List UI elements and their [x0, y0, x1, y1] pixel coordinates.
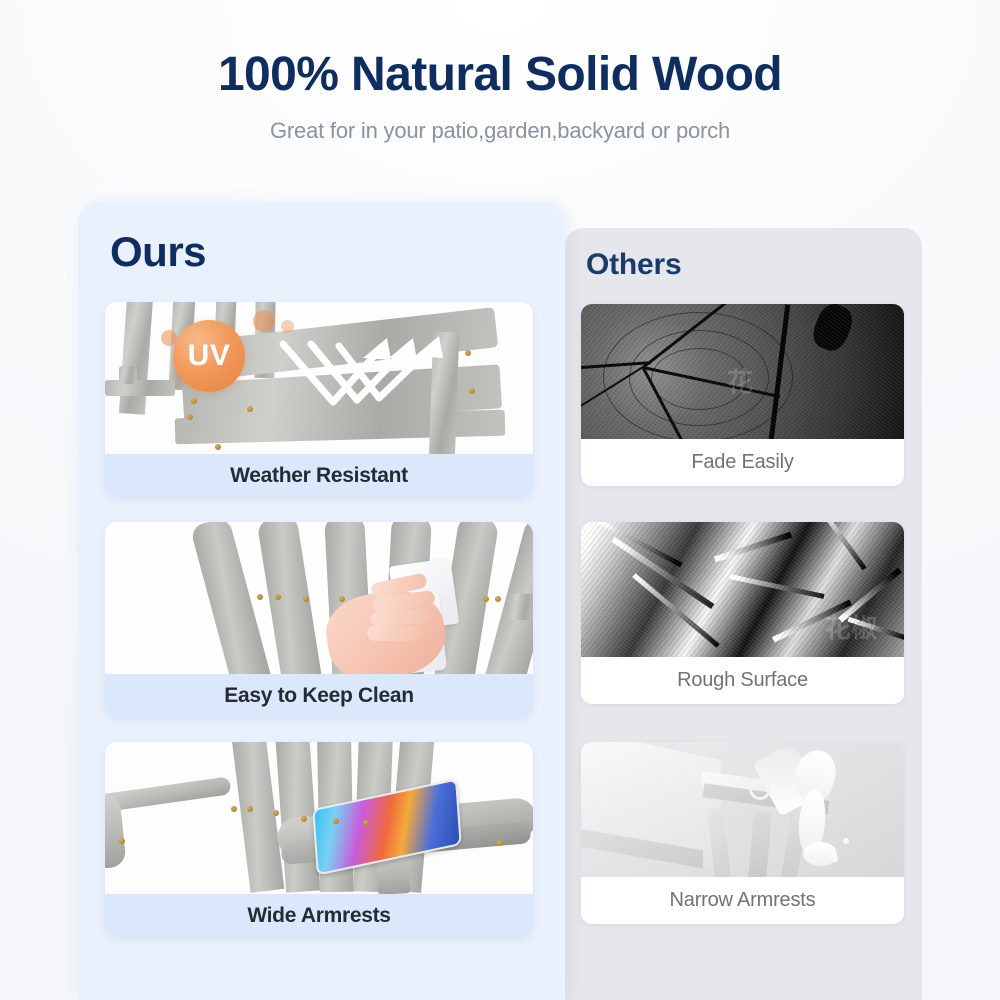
others-card-fade-easily[interactable]: 花 Fade Easily	[581, 304, 904, 486]
others-card-1-watermark: 花	[727, 362, 753, 399]
others-card-3-image	[581, 742, 904, 877]
others-card-1-caption: Fade Easily	[581, 439, 904, 486]
others-card-2-caption: Rough Surface	[581, 657, 904, 704]
cracked-stump-texture: 花	[581, 304, 904, 439]
ours-card-1-caption: Weather Resistant	[105, 454, 533, 498]
uv-reflection-arrows	[105, 302, 533, 454]
others-card-rough-surface[interactable]: 花椒 Rough Surface	[581, 522, 904, 704]
others-card-2-watermark: 花椒	[825, 608, 877, 645]
ours-card-weather-resistant[interactable]: UV Weather Resistant	[105, 302, 533, 498]
chair-uv-illustration: UV	[105, 302, 533, 454]
narrow-armrest-render	[581, 742, 904, 877]
others-panel-title: Others	[586, 248, 682, 282]
ours-card-1-image: UV	[105, 302, 533, 454]
ours-panel-title: Ours	[110, 228, 206, 276]
rough-wood-texture: 花椒	[581, 522, 904, 657]
ours-card-2-caption: Easy to Keep Clean	[105, 674, 533, 718]
uv-badge: UV	[173, 320, 245, 392]
page-title: 100% Natural Solid Wood	[0, 48, 1000, 102]
ours-card-easy-to-keep-clean[interactable]: Easy to Keep Clean	[105, 522, 533, 718]
others-card-1-image: 花	[581, 304, 904, 439]
others-card-3-caption: Narrow Armrests	[581, 877, 904, 924]
ours-card-wide-armrests[interactable]: Wide Armrests	[105, 742, 533, 938]
others-card-narrow-armrests[interactable]: Narrow Armrests	[581, 742, 904, 924]
ours-card-3-caption: Wide Armrests	[105, 894, 533, 938]
others-card-2-image: 花椒	[581, 522, 904, 657]
ours-card-3-image	[105, 742, 533, 894]
chair-armrest-illustration	[105, 742, 533, 894]
chair-cleaning-illustration	[105, 522, 533, 674]
ours-card-2-image	[105, 522, 533, 674]
page-subtitle: Great for in your patio,garden,backyard …	[0, 118, 1000, 144]
header: 100% Natural Solid Wood Great for in you…	[0, 48, 1000, 144]
